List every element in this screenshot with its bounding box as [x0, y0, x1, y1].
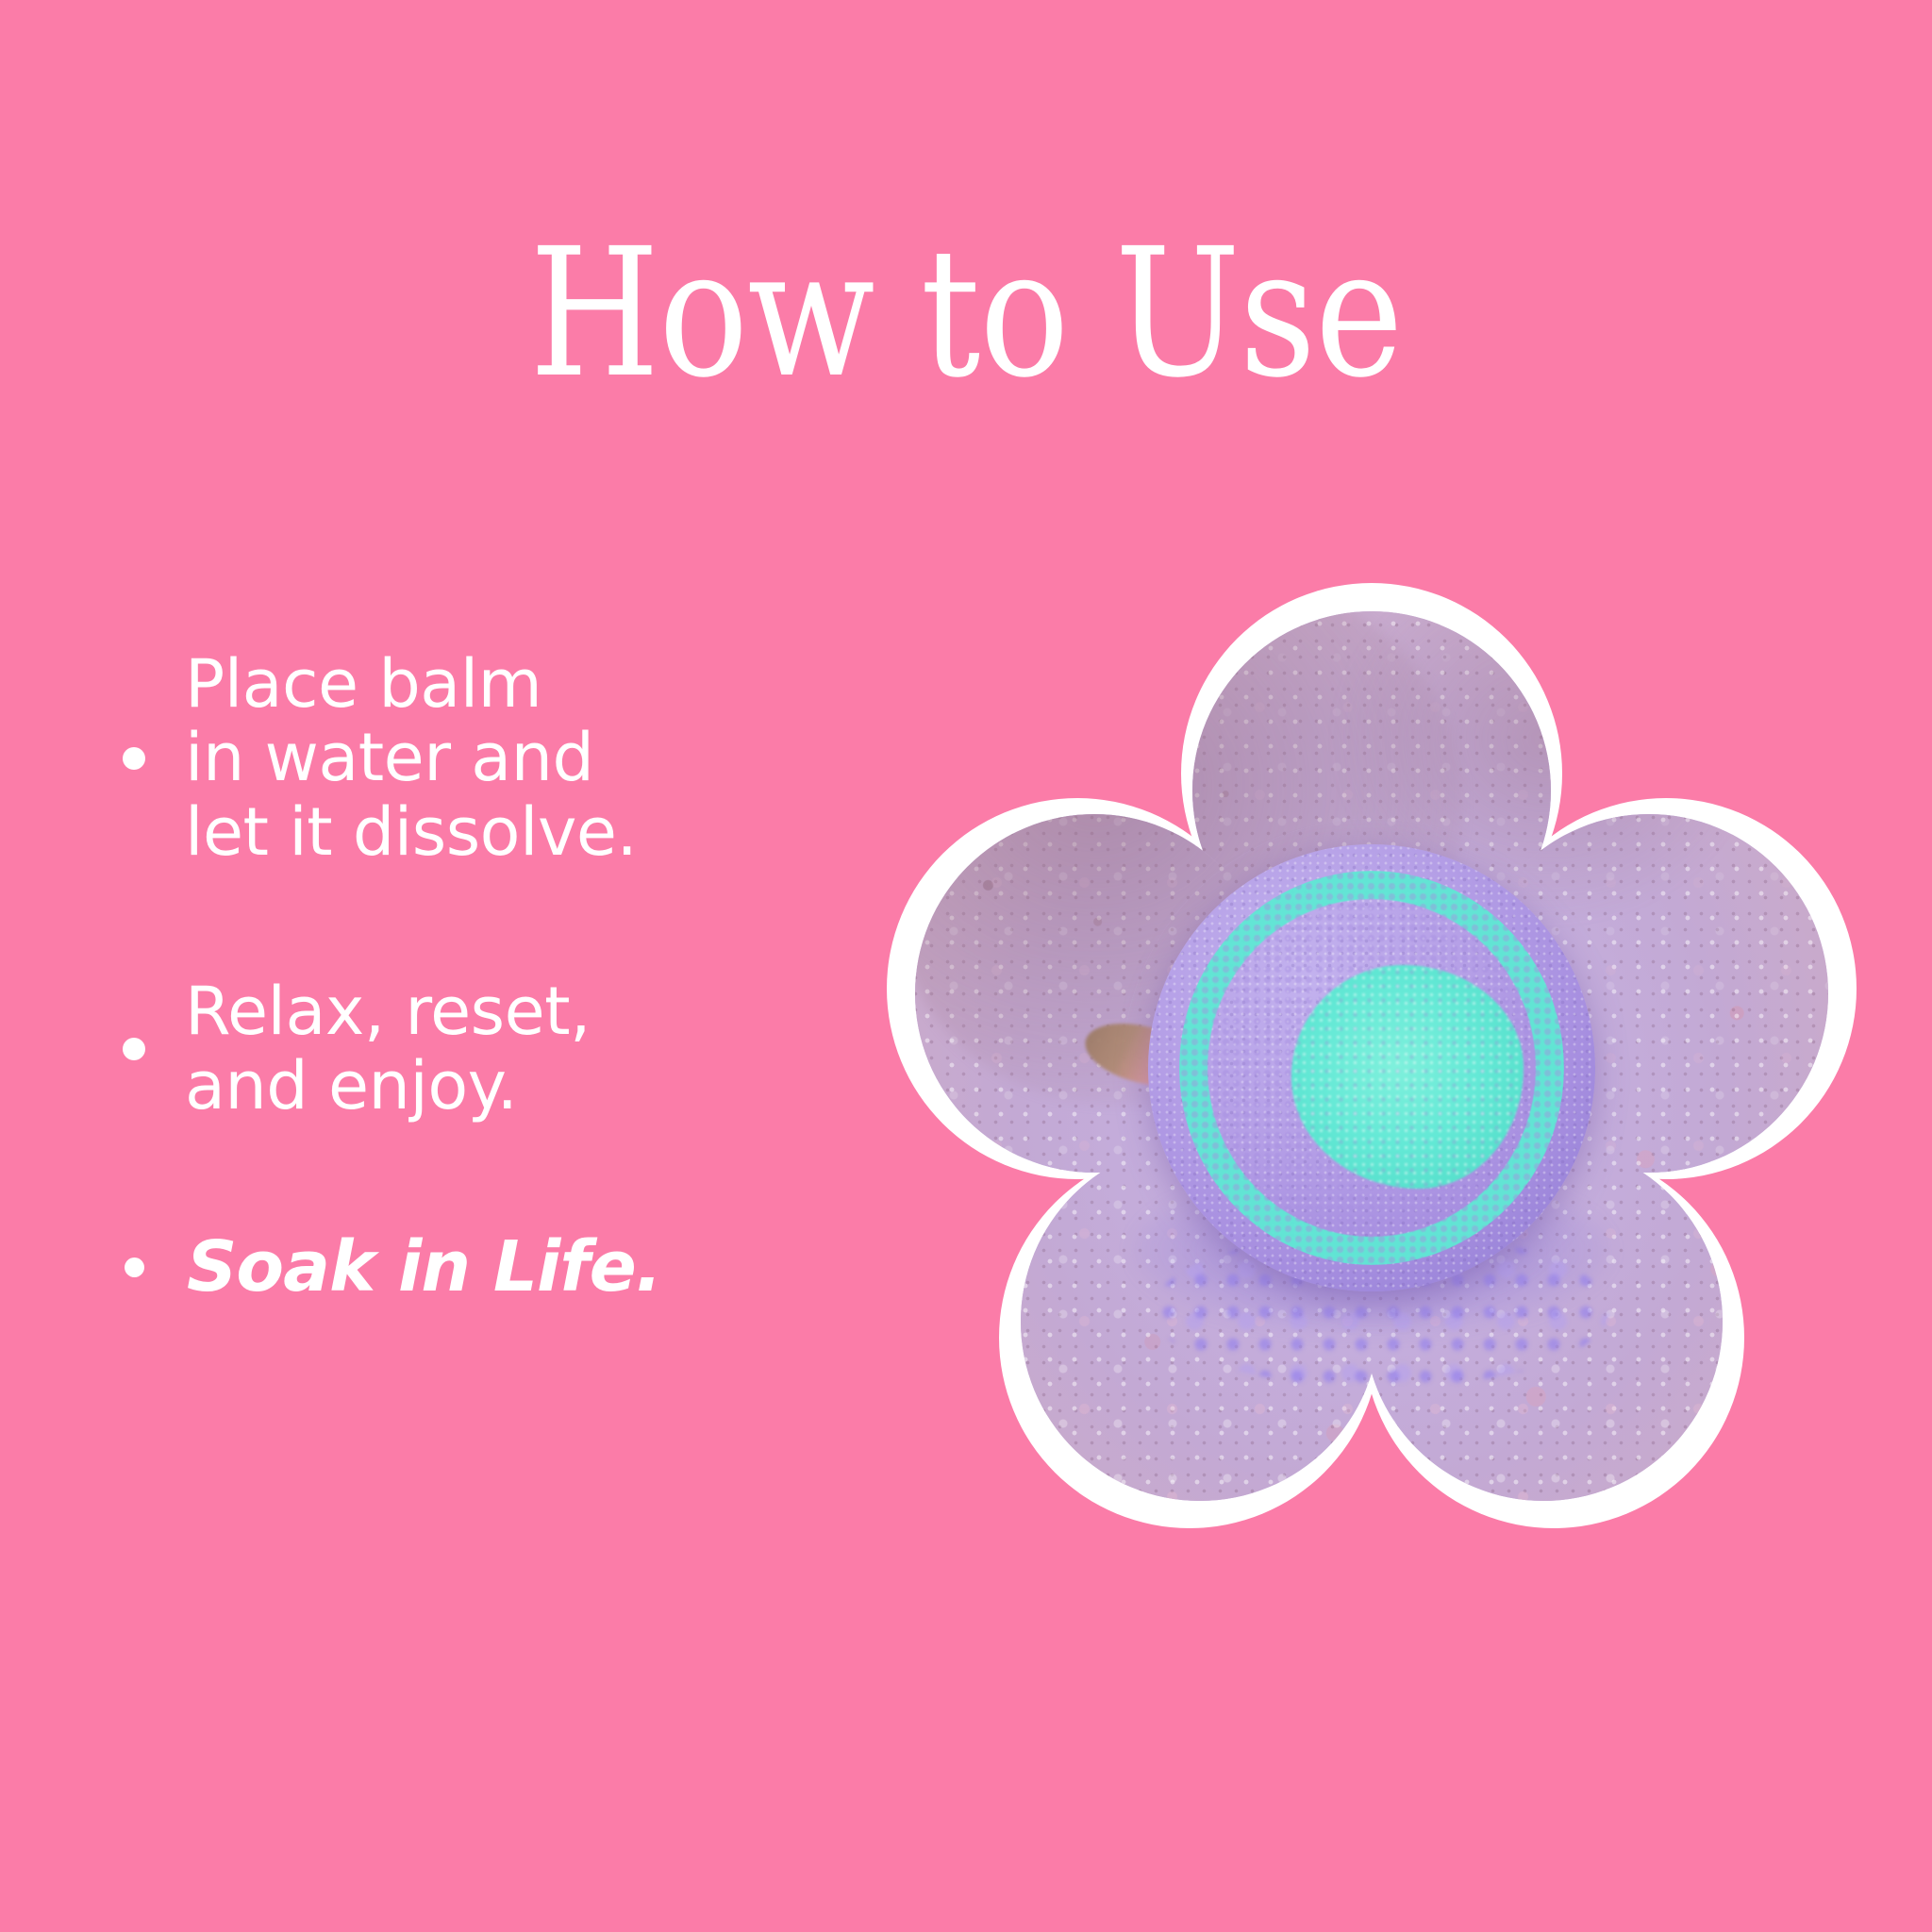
bullet-dot-icon: [123, 747, 145, 770]
instructions-list: Place balmin water andlet it dissolve. R…: [123, 647, 802, 1307]
list-item: Place balmin water andlet it dissolve.: [123, 647, 802, 869]
bullet-dot-icon: [123, 1038, 145, 1060]
flower-photo-clip: [915, 611, 1828, 1524]
bath-bomb: [1148, 844, 1595, 1291]
bullet-dot-icon: [125, 1257, 144, 1277]
page-title: How to Use: [58, 225, 1874, 402]
product-image: [887, 583, 1857, 1553]
poster-canvas: How to Use Place balmin water andlet it …: [0, 0, 1932, 1932]
list-item: Soak in Life.: [123, 1228, 802, 1307]
list-item-label: Place balmin water andlet it dissolve.: [185, 647, 637, 869]
list-item-label: Soak in Life.: [187, 1228, 661, 1307]
list-item-label: Relax, reset,and enjoy.: [185, 974, 591, 1123]
list-item: Relax, reset,and enjoy.: [123, 974, 802, 1123]
